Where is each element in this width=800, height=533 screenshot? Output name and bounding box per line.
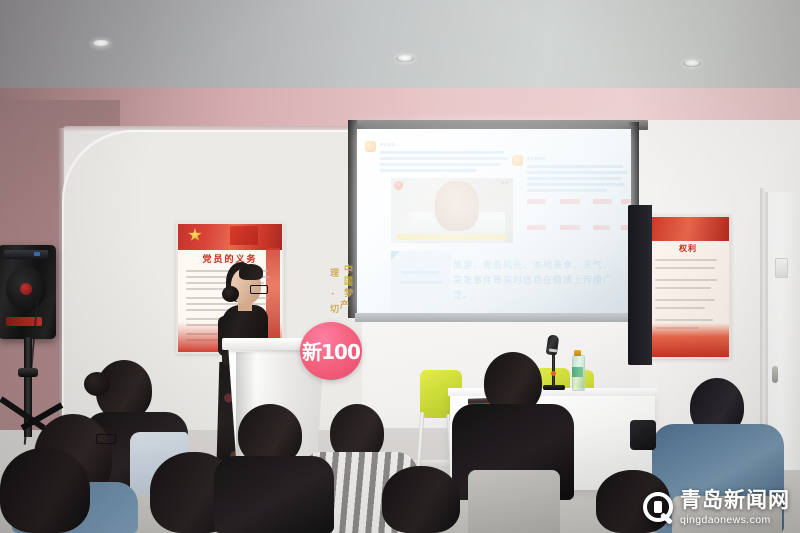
- audience-hair-bun: [84, 372, 110, 396]
- qingdao-news-logo-icon: [643, 492, 673, 522]
- slide-watermark-dot: [615, 296, 624, 305]
- pa-tripod-knob[interactable]: [18, 368, 38, 377]
- slide-tag: [593, 225, 610, 230]
- post-text-line: [380, 151, 504, 154]
- post-text-line: [527, 165, 623, 168]
- poster-title: 权利: [647, 243, 729, 254]
- pa-led-icon: [34, 252, 40, 256]
- poster-right-partial: 权利: [645, 215, 731, 359]
- slide-blue-corner-icon: [391, 251, 400, 260]
- poster-flag: [230, 226, 258, 245]
- downlight-1: [92, 40, 110, 47]
- screen-bottom-bar: [355, 313, 635, 322]
- podium-logo-disc: 新100: [300, 322, 362, 380]
- slide-tag: [527, 199, 546, 204]
- post-avatar-icon: [512, 155, 523, 166]
- post-text-line: [380, 169, 476, 172]
- poster-body-line: [655, 267, 715, 269]
- bottle-label: [572, 367, 583, 377]
- light-switch[interactable]: [775, 258, 788, 278]
- post-text-line: [527, 183, 625, 186]
- slide-tag: [593, 199, 612, 204]
- watermark: 青岛新闻网 qingdaonews.com: [643, 490, 790, 526]
- slide-heading: 旅游、青岛风光、本地美食、天气、突发事件等实时信息在微博上传播广泛。: [453, 259, 618, 304]
- poster-body-line: [655, 307, 705, 309]
- slide-blue-panel: [391, 251, 451, 313]
- audience-head: [0, 448, 90, 533]
- video-subtitle-bar: [397, 234, 507, 240]
- post-author-name: 青岛新闻网: [527, 156, 546, 161]
- pa-control-panel[interactable]: [4, 250, 48, 259]
- poster-body-line: [655, 287, 711, 289]
- slide-tag: [527, 225, 546, 230]
- wall-char-5: ·: [331, 290, 334, 300]
- door-handle[interactable]: [772, 366, 778, 383]
- slide-content: 青岛发布 新闻 青岛新闻网: [357, 129, 631, 315]
- slide-tag: [621, 199, 631, 204]
- post-text-line: [527, 171, 627, 174]
- watermark-chinese: 青岛新闻网: [680, 490, 790, 511]
- video-logo-text: 新闻: [501, 181, 509, 186]
- downlight-2: [396, 55, 414, 62]
- wall-char-1: 理: [330, 266, 339, 279]
- blue-panel-line: [401, 271, 439, 274]
- poster-body-line: [655, 319, 713, 321]
- blue-panel-line: [399, 281, 443, 284]
- slide-video-thumbnail: 新闻: [391, 178, 513, 243]
- slide-tag: [560, 225, 580, 230]
- projection-screen: 青岛发布 新闻 青岛新闻网: [357, 129, 631, 315]
- post-text-line: [380, 163, 500, 166]
- chair-front-seatback[interactable]: [468, 470, 560, 533]
- poster-top-banner: [647, 217, 729, 241]
- poster-body-line: [655, 299, 715, 301]
- presenter-fringe: [239, 264, 263, 280]
- watermark-text: 青岛新闻网 qingdaonews.com: [680, 490, 790, 526]
- poster-body-line: [655, 279, 717, 281]
- microphone-indicator-icon: [551, 371, 556, 376]
- wall-char-7: 切: [330, 302, 339, 315]
- podium-logo-text: 新100: [302, 342, 360, 362]
- audience-shoulder: [630, 420, 656, 450]
- downlight-3: [683, 60, 701, 67]
- audience-head: [382, 466, 460, 533]
- screenshot-root: 青岛发布 新闻 青岛新闻网: [0, 0, 800, 533]
- watermark-english: qingdaonews.com: [680, 515, 790, 526]
- post-text-line: [380, 157, 508, 160]
- poster-occluder: [628, 205, 652, 365]
- audience-torso: [214, 456, 334, 533]
- pa-dustcap-icon: [20, 283, 32, 295]
- post-avatar-icon: [365, 141, 376, 152]
- slide-tag: [560, 199, 580, 204]
- video-play-badge-icon: [394, 181, 403, 190]
- post-author-name: 青岛发布: [380, 142, 395, 147]
- pa-speaker: [0, 245, 56, 339]
- wall-char-6: 产: [340, 298, 349, 311]
- microphone-stem: [552, 350, 555, 386]
- presenter-hair-bun: [222, 286, 239, 302]
- audience-glasses-icon: [96, 434, 116, 444]
- bottle-cap: [574, 350, 581, 356]
- presenter-glasses-icon: [250, 285, 268, 294]
- post-text-line: [527, 177, 621, 180]
- video-subject-face: [435, 181, 479, 231]
- poster-bottom-gradient: [647, 323, 729, 357]
- poster-body-line: [655, 259, 717, 261]
- post-text-line: [527, 189, 607, 192]
